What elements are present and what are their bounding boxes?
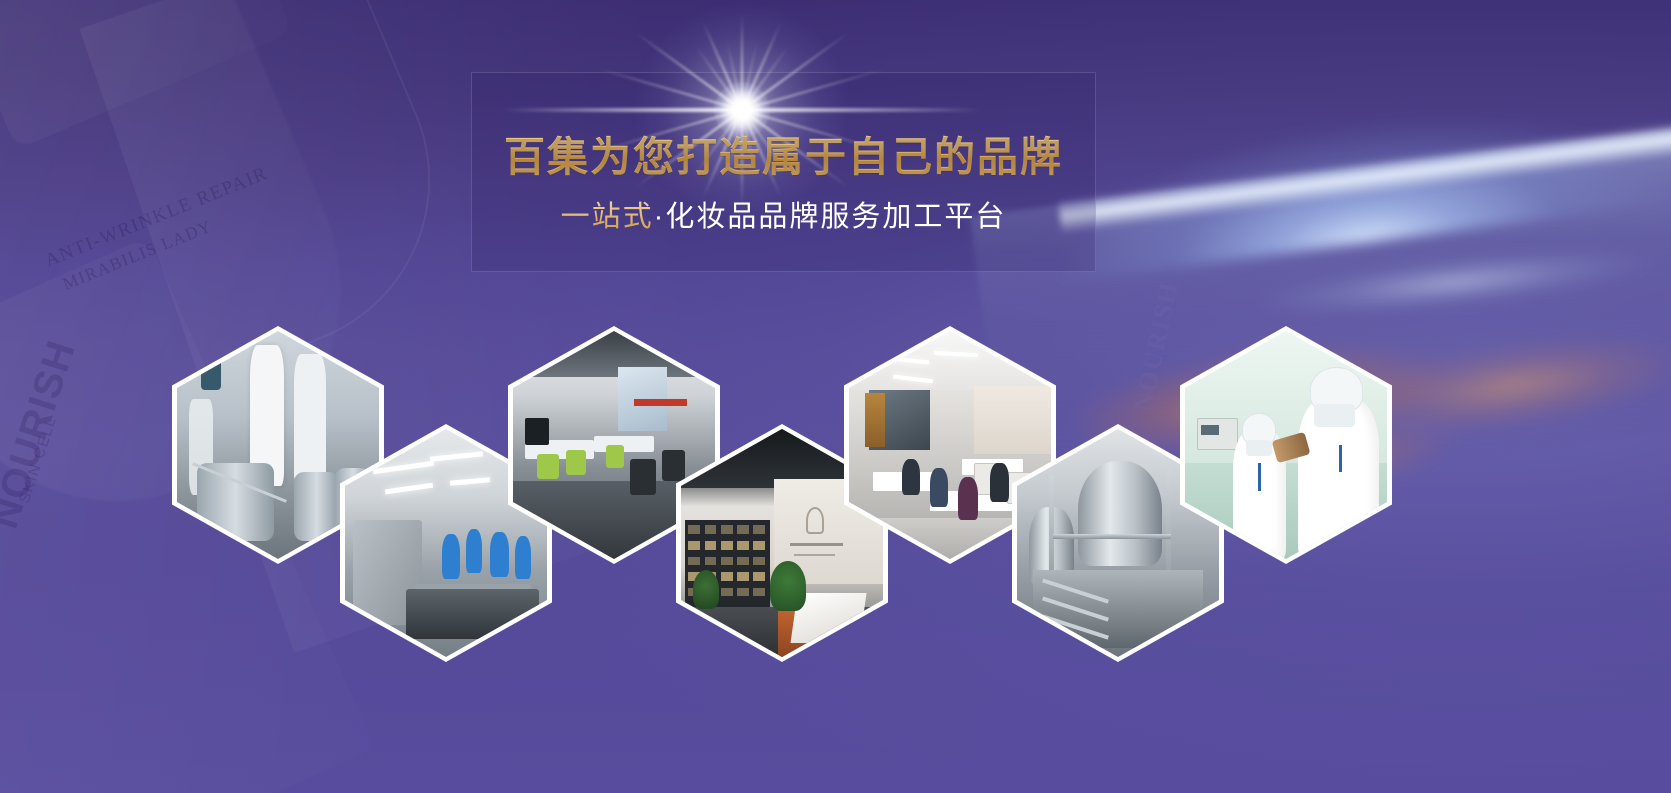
hexagon-photo-strip: 车间反应釜操作 灌装生产线 bbox=[0, 0, 1671, 793]
promo-banner: ANTI-WRINKLE REPAIR MIRABILIS LADY NOURI… bbox=[0, 0, 1671, 793]
